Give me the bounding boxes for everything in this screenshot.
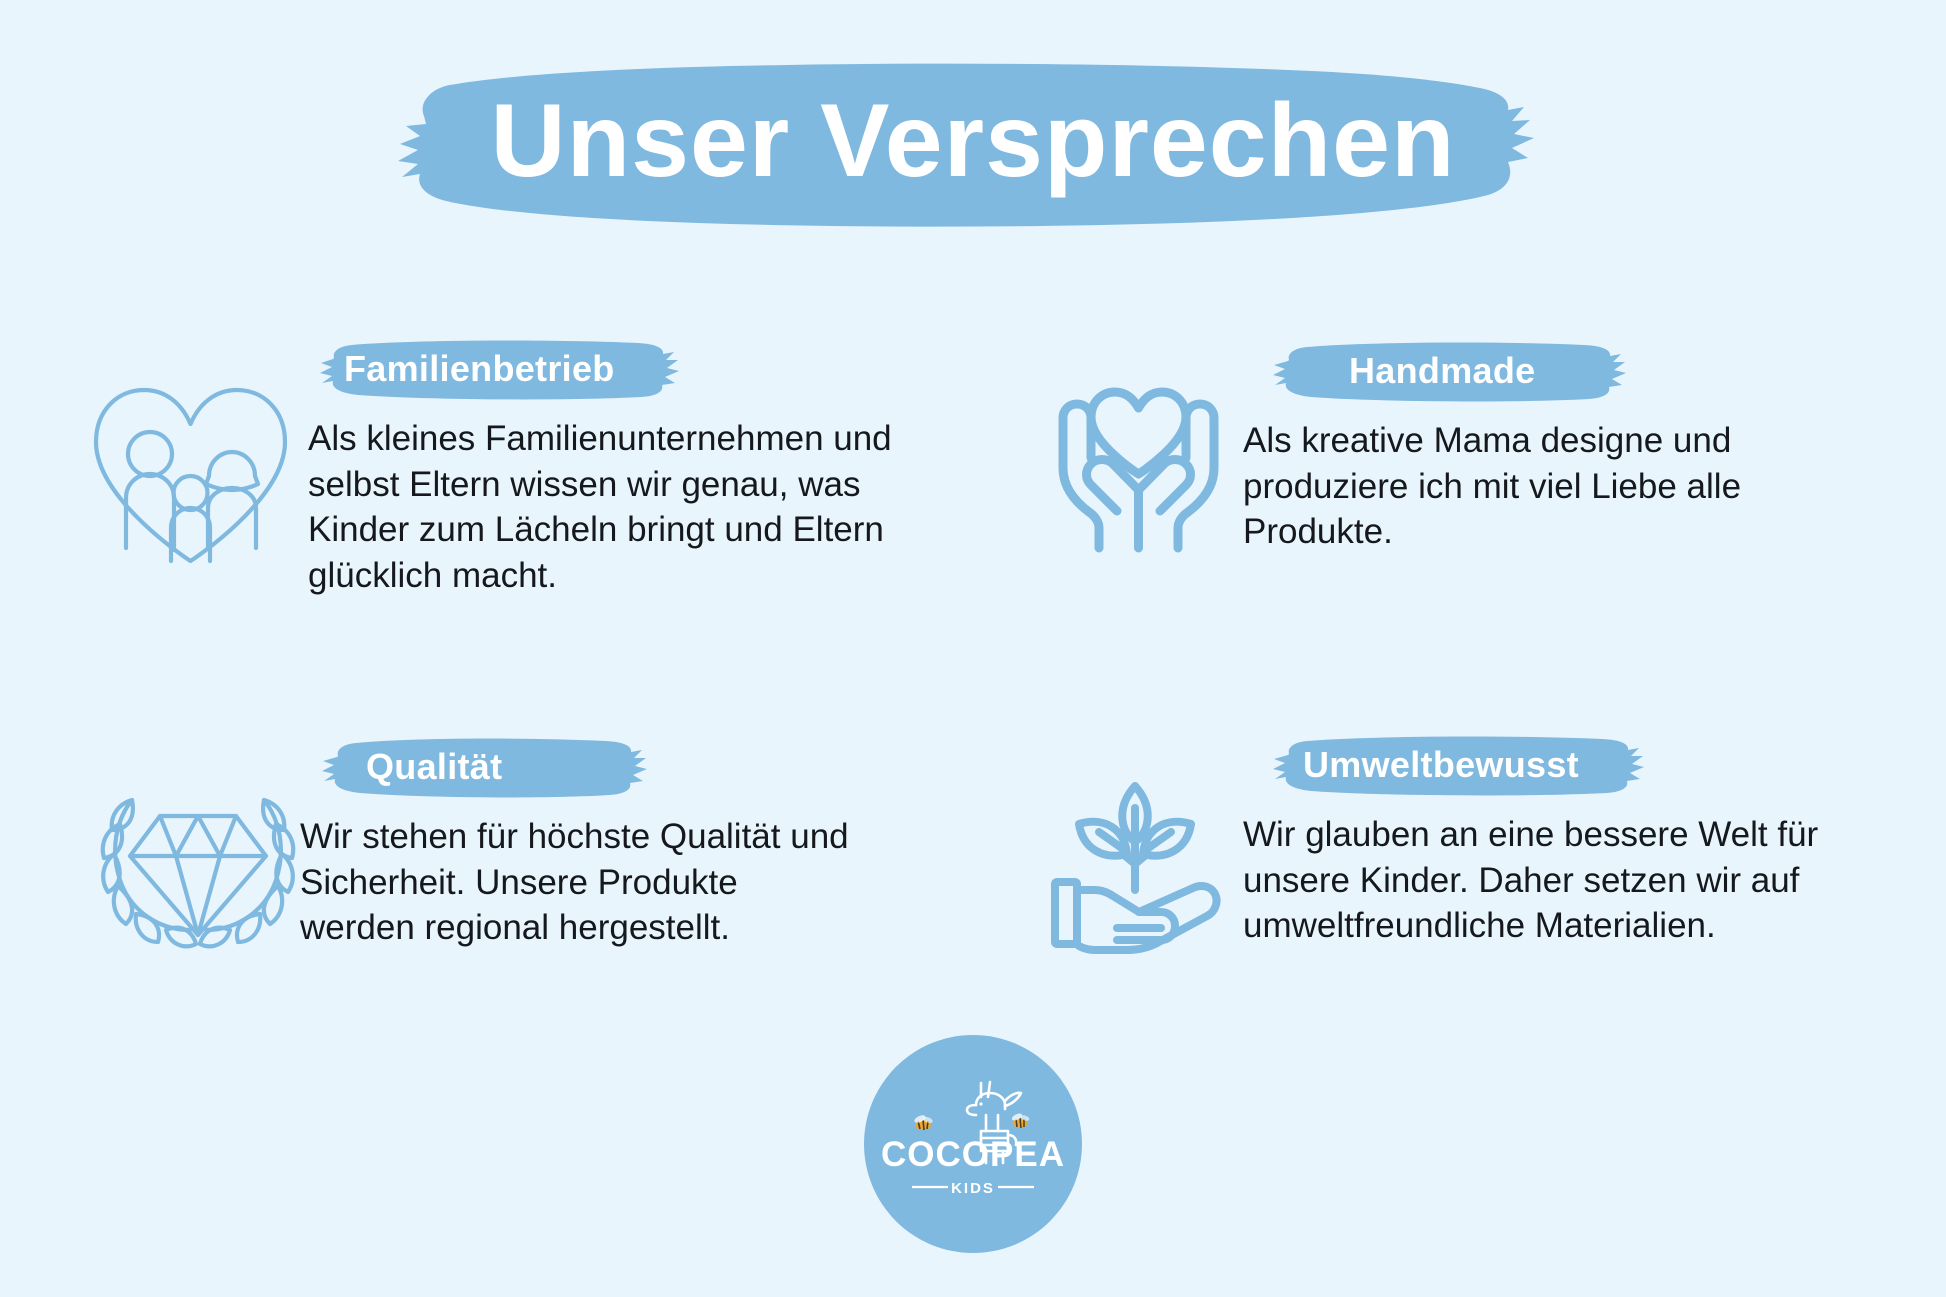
feature-umweltbewusst: Umweltbewusst Wir glauben an eine besser…	[973, 730, 1946, 1130]
icon-slot	[973, 330, 1243, 558]
family-heart-icon	[88, 380, 293, 570]
page-title-banner: Unser Versprechen	[0, 58, 1946, 233]
badge-qualitaet: Qualität	[320, 736, 502, 798]
title-brush-stroke: Unser Versprechen	[388, 58, 1558, 233]
cocopea-logo: COCOPEA KIDS	[864, 1035, 1082, 1253]
feature-body: Handmade Als kreative Mama designe und p…	[1243, 330, 1946, 555]
feature-qualitaet: Qualität Wir stehen für höchste Qualität…	[0, 730, 973, 1130]
logo-tagline: KIDS	[951, 1180, 995, 1197]
features-grid: Familienbetrieb Als kleines Familienunte…	[0, 330, 1946, 1130]
feature-text: Wir stehen für höchste Qualität und Sich…	[300, 814, 860, 951]
icon-slot	[973, 730, 1243, 957]
badge-label: Qualität	[320, 746, 502, 788]
page-title: Unser Versprechen	[490, 82, 1455, 201]
hands-holding-heart-icon	[1051, 378, 1226, 558]
badge-umweltbewusst: Umweltbewusst	[1271, 734, 1579, 796]
feature-body: Qualität Wir stehen für höchste Qualität…	[300, 730, 973, 951]
icon-slot	[0, 730, 300, 963]
badge-label: Familienbetrieb	[318, 348, 615, 390]
feature-body: Umweltbewusst Wir glauben an eine besser…	[1243, 730, 1946, 949]
hand-holding-plant-icon	[1043, 772, 1233, 957]
feature-text: Als kreative Mama designe und produziere…	[1243, 418, 1823, 555]
feature-text: Wir glauben an eine bessere Welt für uns…	[1243, 812, 1843, 949]
feature-handmade: Handmade Als kreative Mama designe und p…	[973, 330, 1946, 730]
feature-body: Familienbetrieb Als kleines Familienunte…	[300, 330, 973, 598]
badge-handmade: Handmade	[1271, 340, 1535, 402]
badge-label: Handmade	[1271, 350, 1535, 392]
badge-familienbetrieb: Familienbetrieb	[318, 338, 615, 400]
badge-label: Umweltbewusst	[1271, 744, 1579, 786]
promise-infographic: { "page": { "title": "Unser Versprechen"…	[0, 0, 1946, 1297]
diamond-laurel-icon	[98, 778, 298, 963]
icon-slot	[0, 330, 300, 570]
logo-wordmark: COCOPEA	[881, 1135, 1065, 1174]
feature-text: Als kleines Familienunternehmen und selb…	[308, 416, 908, 598]
feature-familienbetrieb: Familienbetrieb Als kleines Familienunte…	[0, 330, 973, 730]
